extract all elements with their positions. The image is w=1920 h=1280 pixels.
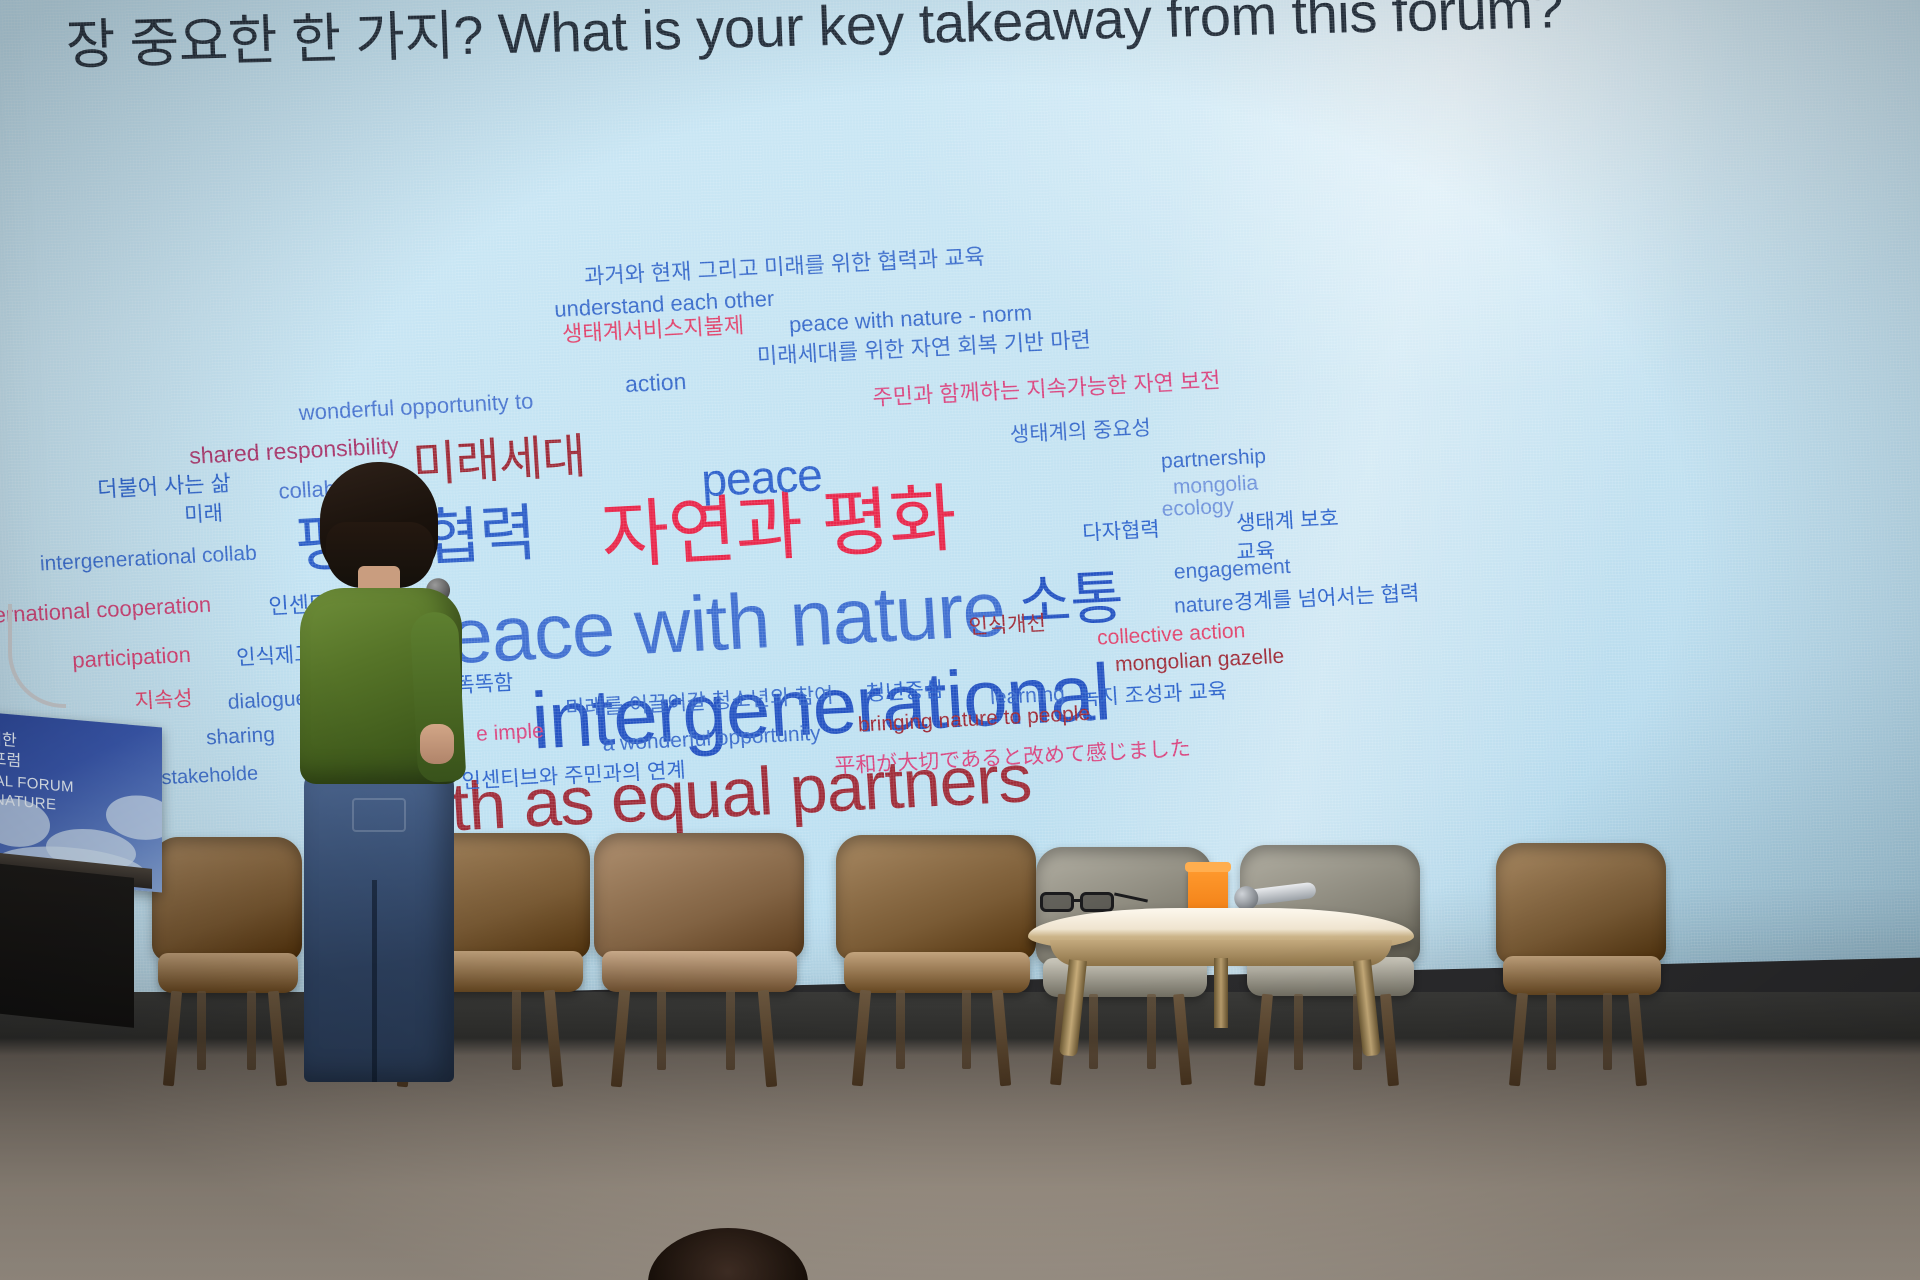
chair-leg (852, 990, 871, 1087)
chair-leg (197, 991, 206, 1070)
side-table (1028, 900, 1414, 1060)
word-cloud-term: 과거와 현재 그리고 미래를 위한 협력과 교육 (584, 246, 986, 288)
word-cloud-term: l stakeholde (151, 763, 259, 788)
word-cloud-term: 생태계의 중요성 (1009, 418, 1151, 446)
word-cloud-term: action (624, 370, 687, 396)
chair-leg (896, 990, 905, 1069)
presenter-hand (420, 724, 454, 764)
chair-seat (158, 953, 298, 993)
word-cloud-term: mongolia (1172, 472, 1258, 497)
word-cloud-term: 다자협력 (1082, 519, 1160, 544)
chair-3 (594, 833, 804, 1075)
word-cloud-term: partnership (1160, 446, 1266, 472)
word-cloud-term: 지속성 (134, 688, 193, 712)
podium-body (0, 862, 134, 1028)
chair-back (152, 837, 302, 961)
chair-leg (758, 990, 777, 1088)
word-cloud-term: participation (72, 644, 192, 672)
word-cloud-term: ecology (1161, 495, 1235, 520)
word-cloud-term: intergenerational collab (39, 543, 257, 575)
chair-leg (1509, 993, 1528, 1087)
conference-stage-photo: Mentimeter 장 중요한 한 가지? What is your key … (0, 0, 1920, 1280)
podium: 래세대를 위한 평화 국제 포럼 ON GLOBAL FORUM CE WITH… (0, 720, 166, 1020)
word-cloud-term: wonderful opportunity to (298, 390, 534, 424)
presenter-head (320, 462, 438, 582)
microphone-stand-icon (8, 604, 68, 728)
chair-leg (1547, 993, 1556, 1070)
word-cloud-term: 생태계 보호 (1236, 508, 1340, 534)
chair-seat (844, 952, 1030, 993)
chair-7 (1496, 843, 1666, 1075)
chair-leg (611, 990, 630, 1088)
word-cloud-term: mongolian gazelle (1114, 646, 1284, 676)
word-cloud-term: engagement (1173, 556, 1291, 583)
chair-4 (836, 835, 1036, 1075)
chair-leg (657, 990, 666, 1070)
chair-back (1496, 843, 1666, 964)
presenter-person (296, 462, 466, 1082)
chair-1 (152, 837, 302, 1075)
chair-leg (992, 990, 1011, 1087)
presenter-pocket (352, 798, 406, 832)
word-cloud-term: 주민과 함께하는 지속가능한 자연 보전 (872, 370, 1221, 410)
word-cloud-term: sharing (205, 724, 275, 748)
word-cloud-term: 인식개선 (968, 613, 1046, 638)
chair-leg (247, 991, 256, 1070)
chair-leg (544, 990, 563, 1088)
chair-leg (1603, 993, 1612, 1070)
chair-leg (268, 991, 287, 1087)
chair-back (594, 833, 804, 959)
chair-leg (1628, 993, 1647, 1087)
chair-leg (962, 990, 971, 1069)
chair-seat (602, 951, 797, 992)
word-cloud-term: 청년중심 (865, 679, 943, 704)
word-cloud-term: e imple (475, 720, 544, 744)
chair-seat (1503, 956, 1661, 995)
word-cloud-term: peace (700, 451, 823, 503)
word-cloud-term: 경계를 넘어서는 협력 (1233, 583, 1420, 613)
word-cloud-term: 더불어 사는 삶 (97, 472, 232, 501)
word-cloud-term: 미래 (184, 503, 224, 526)
chair-leg (726, 990, 735, 1070)
word-cloud-term: nature (1173, 593, 1234, 617)
chair-leg (512, 990, 521, 1070)
chair-back (836, 835, 1036, 960)
